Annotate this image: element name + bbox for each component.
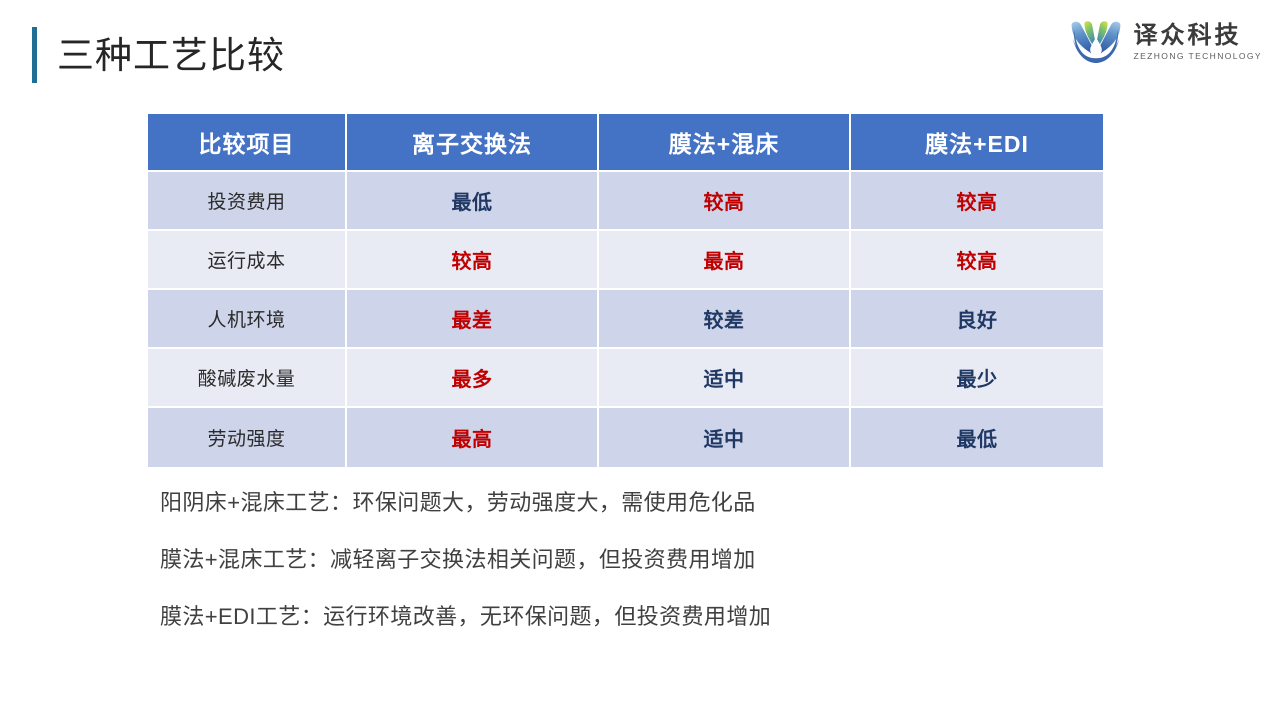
table-header-row: 比较项目 离子交换法 膜法+混床 膜法+EDI [148,114,1103,172]
table-row: 人机环境 最差 较差 良好 [148,290,1103,349]
note-line-membrane-mixed-bed: 膜法+混床工艺：减轻离子交换法相关问题，但投资费用增加 [160,549,1160,571]
table-row: 酸碱废水量 最多 适中 最少 [148,349,1103,408]
column-header-membrane-edi: 膜法+EDI [851,114,1103,172]
cell-value: 最差 [347,290,599,349]
page-title: 三种工艺比较 [32,26,285,84]
table-header: 比较项目 离子交换法 膜法+混床 膜法+EDI [148,114,1103,172]
row-label: 劳动强度 [148,408,347,467]
logo-company-en: ZEZHONG TECHNOLOGY [1134,51,1262,61]
company-logo: 译众科技 ZEZHONG TECHNOLOGY [1067,12,1262,70]
cell-value: 最高 [347,408,599,467]
logo-company-cn: 译众科技 [1134,23,1262,48]
column-header-membrane-mixed-bed: 膜法+混床 [599,114,851,172]
table-row: 投资费用 最低 较高 较高 [148,172,1103,231]
row-label: 人机环境 [148,290,347,349]
cell-value: 较高 [851,231,1103,290]
row-label: 酸碱废水量 [148,349,347,408]
table-row: 劳动强度 最高 适中 最低 [148,408,1103,467]
cell-value: 较高 [347,231,599,290]
table-row: 运行成本 较高 最高 较高 [148,231,1103,290]
title-text: 三种工艺比较 [57,37,285,74]
cell-value: 较高 [599,172,851,231]
note-line-ion-exchange: 阳阴床+混床工艺：环保问题大，劳动强度大，需使用危化品 [160,492,1160,514]
cell-value: 最低 [347,172,599,231]
cell-value: 较差 [599,290,851,349]
column-header-item: 比较项目 [148,114,347,172]
cell-value: 最低 [851,408,1103,467]
row-label: 投资费用 [148,172,347,231]
title-accent-bar [32,27,37,83]
table-body: 投资费用 最低 较高 较高 运行成本 较高 最高 较高 人机环境 最差 较差 良… [148,172,1103,467]
lotus-droplet-icon [1067,12,1125,70]
row-label: 运行成本 [148,231,347,290]
cell-value: 最少 [851,349,1103,408]
note-line-membrane-edi: 膜法+EDI工艺：运行环境改善，无环保问题，但投资费用增加 [160,606,1160,628]
cell-value: 最高 [599,231,851,290]
slide-root: 三种工艺比较 [0,0,1280,720]
column-header-ion-exchange: 离子交换法 [347,114,599,172]
logo-wordmark: 译众科技 ZEZHONG TECHNOLOGY [1134,21,1262,61]
cell-value: 良好 [851,290,1103,349]
comparison-table: 比较项目 离子交换法 膜法+混床 膜法+EDI 投资费用 最低 较高 较高 运行… [148,114,1103,467]
cell-value: 适中 [599,408,851,467]
cell-value: 较高 [851,172,1103,231]
cell-value: 适中 [599,349,851,408]
summary-notes: 阳阴床+混床工艺：环保问题大，劳动强度大，需使用危化品 膜法+混床工艺：减轻离子… [160,492,1160,628]
cell-value: 最多 [347,349,599,408]
